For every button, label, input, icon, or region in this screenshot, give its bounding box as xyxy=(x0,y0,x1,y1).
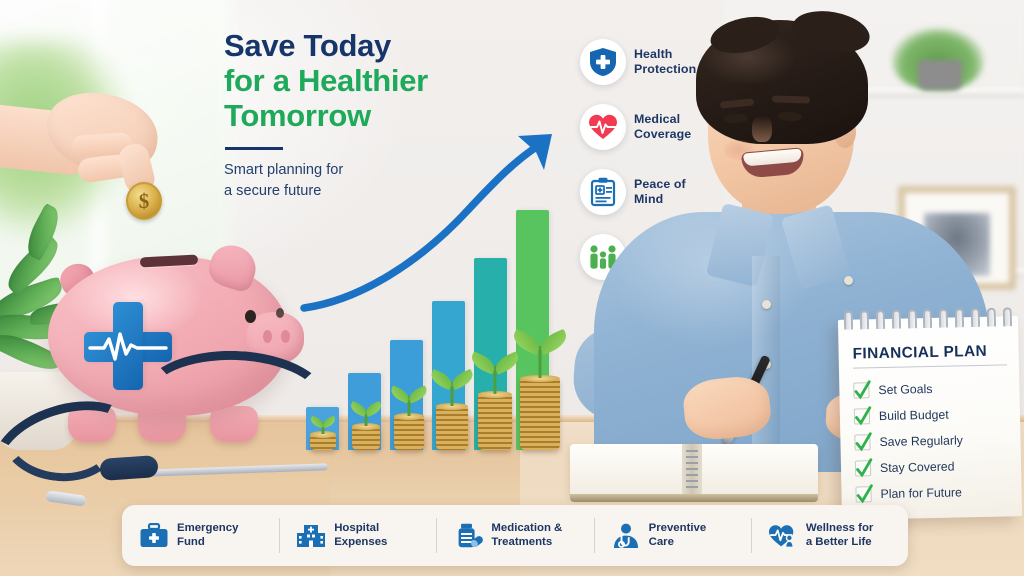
hand-dropping-coin: $ xyxy=(0,60,194,240)
infographic-canvas: $ xyxy=(0,0,1024,576)
financial-plan-notepad: FINANCIAL PLAN Set Goals Build Budget Sa… xyxy=(838,316,1022,520)
shirt-button xyxy=(762,300,771,309)
benefit-label: Preventive Care xyxy=(649,522,707,549)
seedling-icon xyxy=(394,380,424,416)
checklist-label: Set Goals xyxy=(878,382,932,397)
benefit-item-emergency-fund[interactable]: Emergency Fund xyxy=(122,505,279,566)
notepad-title-rule xyxy=(853,364,1007,369)
subtitle: Smart planning for a secure future xyxy=(224,160,554,201)
benefit-item-wellness[interactable]: Wellness for a Better Life xyxy=(751,505,908,566)
checkbox-checked[interactable] xyxy=(854,408,870,424)
piggy-eye xyxy=(245,310,256,323)
hospital-building-icon xyxy=(296,521,326,551)
checkbox-checked[interactable] xyxy=(855,460,871,476)
checklist-item[interactable]: Stay Covered xyxy=(855,452,1012,481)
seedling-icon xyxy=(436,366,468,406)
coins xyxy=(436,406,468,450)
coins xyxy=(394,416,424,450)
coin-stack xyxy=(436,366,468,450)
coin-stack xyxy=(352,386,380,450)
headline-line-2: for a Healthier xyxy=(224,63,554,98)
piggy-nostril xyxy=(263,330,272,343)
coins xyxy=(520,378,560,450)
headline-divider xyxy=(225,147,283,150)
benefit-label: Hospital Expenses xyxy=(334,522,387,549)
stethoscope-chestpiece xyxy=(99,455,158,481)
benefits-bar: Emergency Fund xyxy=(122,505,908,566)
benefit-item-medication-treatments[interactable]: Medication & Treatments xyxy=(436,505,593,566)
checklist-label: Stay Covered xyxy=(880,459,955,475)
coin-stack xyxy=(394,376,424,450)
heart-person-icon xyxy=(768,521,798,551)
coin-stack xyxy=(478,354,512,450)
checkbox-checked[interactable] xyxy=(854,434,870,450)
teeth xyxy=(743,149,802,167)
benefit-item-hospital-expenses[interactable]: Hospital Expenses xyxy=(279,505,436,566)
open-notebook xyxy=(570,444,818,496)
notepad-spiral-binding xyxy=(844,307,1012,331)
first-aid-kit-icon xyxy=(139,521,169,551)
seedling-icon xyxy=(478,350,512,394)
eyebrow-right xyxy=(772,95,810,103)
notebook-page-edge xyxy=(570,494,818,502)
seedling-icon xyxy=(520,330,560,378)
notepad-checklist: Set Goals Build Budget Save Regularly St… xyxy=(853,374,1012,507)
piggy-nostril xyxy=(281,330,290,343)
coin-stack xyxy=(520,338,560,450)
checklist-label: Save Regularly xyxy=(879,433,963,449)
checklist-label: Build Budget xyxy=(879,408,949,423)
headline-line-3: Tomorrow xyxy=(224,98,554,133)
coins xyxy=(478,394,512,450)
benefit-label: Wellness for a Better Life xyxy=(806,522,874,549)
headline-line-1: Save Today xyxy=(224,28,554,63)
checklist-item[interactable]: Build Budget xyxy=(854,400,1011,429)
checklist-label: Plan for Future xyxy=(880,485,962,501)
shirt-button-pocket xyxy=(844,276,853,285)
seedling-icon xyxy=(352,394,380,426)
piggy-eye-far xyxy=(276,308,284,318)
coin-stack xyxy=(310,394,336,450)
checkbox-checked[interactable] xyxy=(855,486,871,502)
benefit-label: Medication & Treatments xyxy=(491,522,562,549)
notebook-spiral-binding xyxy=(686,450,698,490)
checklist-item[interactable]: Save Regularly xyxy=(854,426,1011,455)
gold-coin: $ xyxy=(126,182,162,220)
benefit-item-preventive-care[interactable]: Preventive Care xyxy=(594,505,751,566)
benefit-label: Emergency Fund xyxy=(177,522,238,549)
subtitle-line-2: a secure future xyxy=(224,181,554,202)
subtitle-line-1: Smart planning for xyxy=(224,160,554,181)
checklist-item[interactable]: Set Goals xyxy=(853,374,1010,403)
nose xyxy=(752,116,772,142)
notepad-title: FINANCIAL PLAN xyxy=(852,342,1006,363)
coins xyxy=(352,426,380,450)
pill-bottle-icon xyxy=(453,521,483,551)
checkbox-checked[interactable] xyxy=(853,382,869,398)
seedling-icon xyxy=(310,406,336,434)
headline-block: Save Today for a Healthier Tomorrow Smar… xyxy=(224,28,554,202)
stethoscope-earpiece xyxy=(45,490,86,506)
checklist-item[interactable]: Plan for Future xyxy=(855,478,1012,507)
coins xyxy=(310,434,336,450)
doctor-stethoscope-icon xyxy=(611,521,641,551)
